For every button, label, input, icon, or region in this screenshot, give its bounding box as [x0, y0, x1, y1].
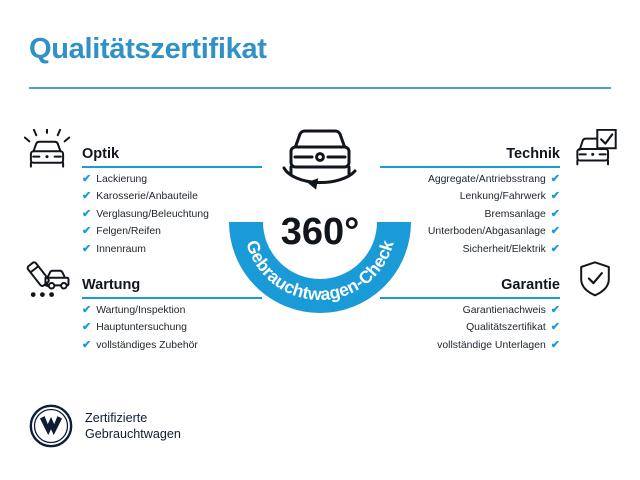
list-item-label: Qualitätszertifikat [466, 320, 546, 336]
list-item-label: Hauptuntersuchung [96, 320, 187, 336]
list-item-label: Verglasung/Beleuchtung [96, 207, 209, 223]
list-item: ✔Qualitätszertifikat [466, 319, 560, 336]
volkswagen-logo [29, 404, 73, 448]
list-item-label: Felgen/Reifen [96, 224, 161, 240]
car-wash-icon [24, 129, 70, 169]
list-item-label: vollständige Unterlagen [437, 338, 546, 354]
list-item: ✔vollständige Unterlagen [437, 337, 560, 354]
list-item: ✔Lenkung/Fahrwerk [460, 188, 560, 205]
list-item: ✔Sicherheit/Elektrik [463, 241, 560, 258]
check-icon: ✔ [82, 241, 91, 257]
list-item: ✔Unterboden/Abgasanlage [428, 223, 560, 240]
quality-certificate-page: Qualitätszertifikat [0, 0, 640, 480]
check-icon: ✔ [82, 319, 91, 335]
list-item: ✔Hauptuntersuchung [82, 319, 262, 336]
check-icon: ✔ [82, 171, 91, 187]
shield-check-icon [572, 260, 618, 300]
section-title-technik: Technik [506, 146, 560, 162]
badge-center-label: 360° [281, 211, 360, 253]
list-item-label: Sicherheit/Elektrik [463, 242, 546, 258]
list-item: ✔vollständiges Zubehör [82, 337, 262, 354]
list-item: ✔Aggregate/Antriebsstrang [428, 171, 560, 188]
car-rotate-360-icon [284, 131, 355, 192]
section-title-wartung: Wartung [82, 277, 140, 293]
title-divider [29, 87, 611, 89]
list-item-label: Lenkung/Fahrwerk [460, 189, 546, 205]
list-item-label: Bremsanlage [485, 207, 546, 223]
badge-360-gebrauchtwagen-check: Gebrauchtwagen-Check 360° [224, 118, 416, 318]
list-item-label: vollständiges Zubehör [96, 338, 198, 354]
check-icon: ✔ [551, 188, 560, 204]
page-title: Qualitätszertifikat [29, 33, 267, 66]
list-item-label: Aggregate/Antriebsstrang [428, 172, 546, 188]
check-icon: ✔ [551, 319, 560, 335]
list-item-label: Unterboden/Abgasanlage [428, 224, 546, 240]
footer-line-2: Gebrauchtwagen [85, 426, 181, 442]
list-item-label: Garantienachweis [463, 303, 546, 319]
list-item: ✔Garantienachweis [463, 302, 560, 319]
footer-logo-block: Zertifizierte Gebrauchtwagen [29, 404, 181, 448]
list-item-label: Lackierung [96, 172, 147, 188]
check-icon: ✔ [551, 241, 560, 257]
check-icon: ✔ [551, 223, 560, 239]
check-icon: ✔ [82, 206, 91, 222]
check-icon: ✔ [551, 302, 560, 318]
footer-logo-text: Zertifizierte Gebrauchtwagen [85, 410, 181, 442]
list-item: ✔Bremsanlage [485, 206, 560, 223]
check-icon: ✔ [82, 223, 91, 239]
car-checkbox-icon [572, 129, 618, 169]
check-icon: ✔ [551, 337, 560, 353]
list-item-label: Innenraum [96, 242, 146, 258]
section-title-optik: Optik [82, 146, 119, 162]
check-icon: ✔ [82, 188, 91, 204]
check-icon: ✔ [82, 302, 91, 318]
check-icon: ✔ [551, 171, 560, 187]
list-item-label: Karosserie/Anbauteile [96, 189, 198, 205]
car-service-tool-icon [24, 260, 70, 300]
list-item-label: Wartung/Inspektion [96, 303, 185, 319]
section-title-garantie: Garantie [501, 277, 560, 293]
footer-line-1: Zertifizierte [85, 410, 181, 426]
check-icon: ✔ [82, 337, 91, 353]
check-icon: ✔ [551, 206, 560, 222]
